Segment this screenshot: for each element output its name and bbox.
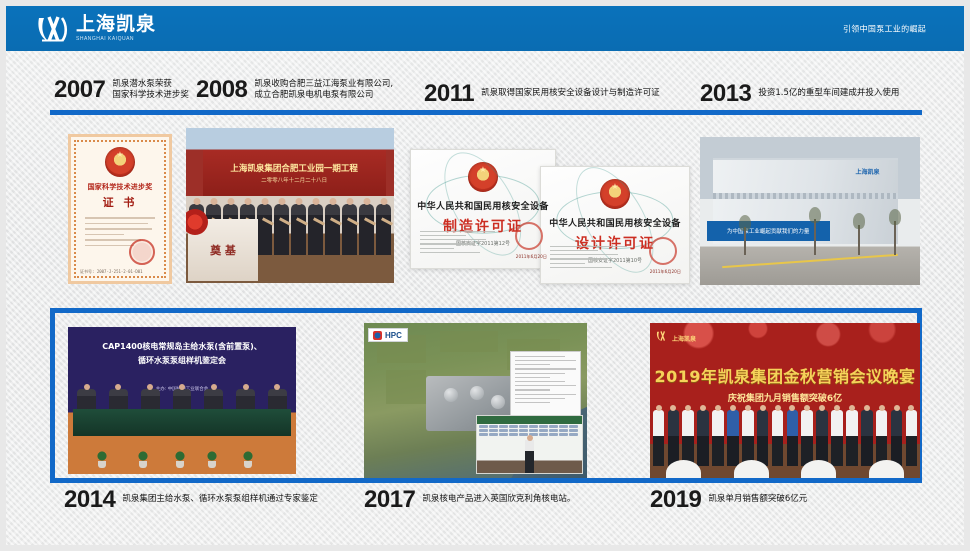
timeline-bottom-labels: 2014 凯泉集团主给水泵、循环水泵泵组样机通过专家鉴定 2017 凯泉核电产品… [6,484,964,514]
hpc-emblem-icon [373,331,382,340]
ceremony-banner-line2: 二零零八年十二月二十八日 [261,176,327,184]
page-header: 上海凯泉 SHANGHAI KAIQUAN 引领中国泵工业的崛起 [6,6,964,51]
year-label-2007: 2007 [54,78,105,102]
nuclear-safety-manufacturing-license: 中华人民共和国民用核安全设备 制造许可证 国核安证字2011第12号 2011年… [410,149,556,269]
hpc-badge-text: HPC [385,332,402,340]
kaiquan-logo-icon [36,14,70,44]
year-label-2019: 2019 [650,488,701,512]
year-label-2013: 2013 [700,82,751,106]
building-window-band [713,193,898,199]
tree-icon [744,227,746,255]
foundation-stone: 奠 基 [188,219,258,281]
nuclear-safety-design-license: 中华人民共和国民用核安全设备 设计许可证 国核安证字2011第10号 2011年… [540,166,690,284]
national-emblem-icon [600,179,630,209]
license-body-lines [420,231,495,256]
license-date: 2011年6月20日 [650,269,681,275]
hefei-industrial-park-groundbreaking-photo: 上海凯泉集团合肥工业园一期工程 二零零八年十二月二十八日 奠 基 [186,128,394,283]
kaiquan-logo-icon [656,329,669,347]
gala-banner-line1: 2019年凯泉集团金秋营销会议晚宴 [650,363,920,387]
license-title: 中华人民共和国民用核安全设备 [549,216,681,229]
national-emblem-icon [105,147,135,177]
factory-road [700,247,920,285]
plant-icon [173,448,187,468]
timeline-entry-2019: 2019 凯泉单月销售额突破6亿元 [650,488,807,512]
meeting-banner-line1: CAP1400核电常规岛主给水泵(含前置泵)、 [102,341,262,352]
timeline-top-labels: 2007 凯泉潜水泵荣获 国家科学技术进步奖 2008 凯泉收购合肥三益江海泵业… [6,76,964,106]
plant-icon [136,448,150,468]
red-seal-icon [515,222,543,250]
ceremony-banner-line1: 上海凯泉集团合肥工业园一期工程 [230,162,358,174]
sponsor-wall-header [477,416,582,424]
year-desc-2019: 凯泉单月销售额突破6亿元 [708,494,807,505]
red-seal-icon [129,239,155,265]
heavy-duty-workshop-photo: 上海凯泉 为中国泵工业崛起贡献我们的力量 [700,137,920,285]
license-date: 2011年6月20日 [516,254,547,260]
gala-banner-line2: 庆祝集团九月销售额突破6亿 [650,391,920,404]
timeline-entry-2007: 2007 凯泉潜水泵荣获 国家科学技术进步奖 [54,78,189,102]
year-label-2017: 2017 [364,488,415,512]
gala-brand-name: 上海凯泉 [672,334,696,343]
year-desc-2013: 投资1.5亿的重型车间建成并投入使用 [758,88,899,99]
brand-name-en: SHANGHAI KAIQUAN [76,36,156,42]
timeline-entry-2014: 2014 凯泉集团主给水泵、循环水泵泵组样机通过专家鉴定 [64,488,318,512]
building-logo-text: 上海凯泉 [856,167,880,176]
timeline-entry-2013: 2013 投资1.5亿的重型车间建成并投入使用 [700,82,899,106]
year-label-2008: 2008 [196,78,247,102]
slide-canvas: 上海凯泉 SHANGHAI KAIQUAN 引领中国泵工业的崛起 2007 凯泉… [6,6,964,545]
red-seal-icon [649,237,677,265]
meeting-table [73,409,292,435]
license-body-lines [550,246,627,271]
meeting-banner: CAP1400核电常规岛主给水泵(含前置泵)、 循环水泵泵组样机鉴定会 [68,336,296,371]
license-title: 中华人民共和国民用核安全设备 [417,199,549,212]
certificate-subtitle: 证 书 [103,194,138,210]
person-figure [525,440,534,473]
plant-icon [205,448,219,468]
year-desc-2014: 凯泉集团主给水泵、循环水泵泵组样机通过专家鉴定 [122,494,318,505]
national-emblem-icon [468,162,498,192]
year-desc-2011: 凯泉取得国家民用核安全设备设计与制造许可证 [481,88,660,99]
plant-icon [95,448,109,468]
gala-brand-logo: 上海凯泉 [656,329,696,347]
timeline-entry-2017: 2017 凯泉核电产品进入英国欣克利角核电站。 [364,488,575,512]
hpc-logo-icon: HPC [368,328,408,342]
brand-logo: 上海凯泉 SHANGHAI KAIQUAN [36,14,156,44]
national-science-award-certificate: 国家科学技术进步奖 证 书 证书号: 2007-J-251-2-01-D01 [68,134,172,284]
certificate-code: 证书号: 2007-J-251-2-01-D01 [80,269,143,275]
timeline-entry-2011: 2011 凯泉取得国家民用核安全设备设计与制造许可证 [424,82,660,106]
year-label-2011: 2011 [424,82,474,106]
foundation-stone-text: 奠 基 [210,242,236,258]
contract-document-overlay [510,351,581,419]
tree-icon [858,225,860,255]
certificate-title: 国家科学技术进步奖 [88,182,153,192]
hinkley-point-c-project-photo: HPC [364,323,587,478]
brand-name-cn: 上海凯泉 [76,15,156,34]
meeting-banner-line2: 循环水泵泵组样机鉴定会 [138,355,226,366]
2019-autumn-sales-gala-photo: 上海凯泉 2019年凯泉集团金秋营销会议晚宴 庆祝集团九月销售额突破6亿 [650,323,920,478]
header-tagline: 引领中国泵工业的崛起 [843,23,926,34]
tree-icon [814,219,816,255]
year-desc-2008: 凯泉收购合肥三益江海泵业有限公司, 成立合肥凯泉电机电泵有限公司 [254,79,393,102]
sponsor-wall-overlay [476,415,583,474]
year-label-2014: 2014 [64,488,115,512]
year-desc-2017: 凯泉核电产品进入英国欣克利角核电站。 [422,494,575,505]
cap1400-appraisal-meeting-photo: CAP1400核电常规岛主给水泵(含前置泵)、 循环水泵泵组样机鉴定会 主办: … [68,327,296,474]
timeline-entry-2008: 2008 凯泉收购合肥三益江海泵业有限公司, 成立合肥凯泉电机电泵有限公司 [196,78,393,102]
banquet-tables [650,456,920,478]
plant-icon [241,448,255,468]
workshop-slogan-banner: 为中国泵工业崛起贡献我们的力量 [707,221,830,240]
year-desc-2007: 凯泉潜水泵荣获 国家科学技术进步奖 [112,79,189,102]
timeline-top-rule [50,110,922,115]
tree-icon [894,221,896,255]
